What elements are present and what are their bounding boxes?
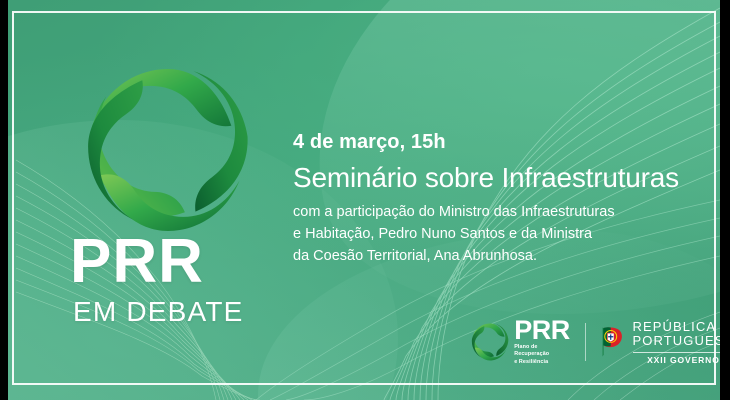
event-description: com a participação do Ministro das Infra… (293, 201, 703, 267)
event-date: 4 de março, 15h (293, 131, 703, 154)
prr-wordmark: PRR (514, 318, 571, 343)
prr-ribbon-mark-icon (80, 62, 256, 238)
poster-root: PRR EM DEBATE 4 de março, 15h Seminário … (0, 0, 730, 400)
logo-divider (585, 323, 586, 361)
portugal-coat-of-arms-icon (599, 325, 625, 359)
government-rule (633, 352, 720, 353)
prr-wordmark-block: PRR Plano de Recuperação e Resiliência (514, 318, 571, 367)
brand-title-block: PRR EM DEBATE (70, 232, 244, 328)
event-description-line-1: com a participação do Ministro das Infra… (293, 201, 703, 223)
government-line-2: PORTUGUESA (633, 334, 720, 349)
brand-subtitle: EM DEBATE (73, 296, 244, 328)
government-line-1: REPÚBLICA (633, 320, 720, 335)
government-logo: REPÚBLICA PORTUGUESA XXII GOVERNO (599, 320, 720, 365)
government-line-3: XXII GOVERNO (633, 355, 720, 365)
event-description-line-3: da Coesão Territorial, Ana Abrunhosa. (293, 245, 703, 267)
brand-title: PRR (70, 232, 244, 292)
footer-logo-lockup: PRR Plano de Recuperação e Resiliência (470, 318, 720, 367)
prr-tagline-line-1: Plano de Recuperação (514, 344, 571, 359)
event-copy-block: 4 de março, 15h Seminário sobre Infraest… (293, 131, 703, 267)
prr-logo: PRR Plano de Recuperação e Resiliência (470, 318, 572, 367)
prr-ribbon-mark-small-icon (470, 321, 510, 363)
event-headline: Seminário sobre Infraestruturas (293, 161, 703, 194)
prr-tagline-line-2: e Resiliência (514, 359, 571, 366)
government-wordmark-block: REPÚBLICA PORTUGUESA XXII GOVERNO (633, 320, 720, 365)
event-description-line-2: e Habitação, Pedro Nuno Santos e da Mini… (293, 223, 703, 245)
poster-canvas: PRR EM DEBATE 4 de março, 15h Seminário … (8, 0, 720, 400)
